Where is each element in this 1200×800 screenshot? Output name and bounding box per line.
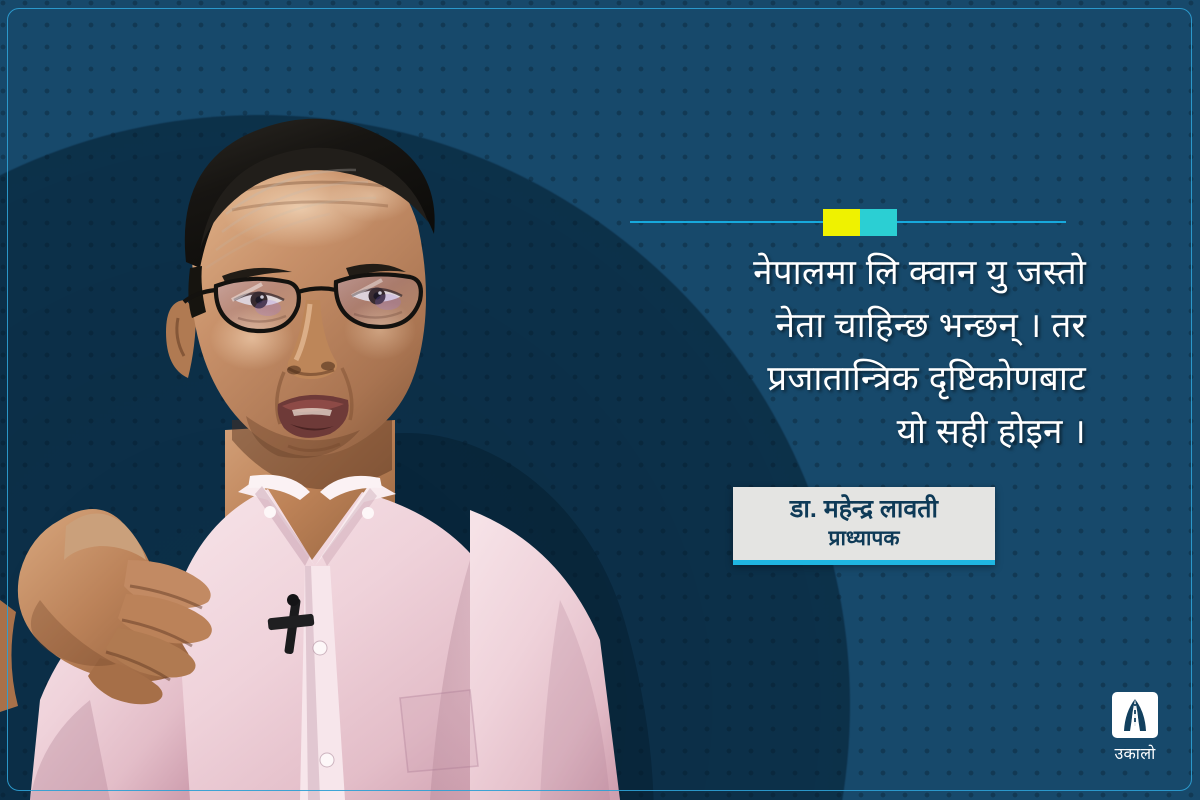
- quote-line-1: नेपालमा लि क्वान यु जस्तो: [610, 246, 1086, 299]
- quote-line-3: प्रजातान्त्रिक दृष्टिकोणबाट: [610, 352, 1086, 405]
- logo-wordmark: उकालो: [1097, 745, 1173, 765]
- speaker-name: डा. महेन्द्र लावती: [743, 493, 985, 525]
- ukalo-road-mark-icon: [1097, 692, 1173, 743]
- quote-card: नेपालमा लि क्वान यु जस्तो नेता चाहिन्छ भ…: [0, 0, 1200, 800]
- yellow-swatch: [823, 209, 860, 236]
- quote-line-2: नेता चाहिन्छ भन्छन् । तर: [610, 299, 1086, 352]
- attribution-box: डा. महेन्द्र लावती प्राध्यापक: [733, 487, 995, 565]
- speaker-role: प्राध्यापक: [743, 525, 985, 552]
- quote-text: नेपालमा लि क्वान यु जस्तो नेता चाहिन्छ भ…: [610, 246, 1086, 458]
- portrait-photo: [0, 0, 620, 800]
- cyan-swatch: [860, 209, 897, 236]
- brand-logo[interactable]: उकालो: [1097, 692, 1173, 765]
- decorative-divider: [630, 220, 1066, 224]
- head: [166, 119, 435, 458]
- quote-panel: नेपालमा लि क्वान यु जस्तो नेता चाहिन्छ भ…: [600, 0, 1160, 800]
- quote-line-4: यो सही होइन ।: [610, 405, 1086, 458]
